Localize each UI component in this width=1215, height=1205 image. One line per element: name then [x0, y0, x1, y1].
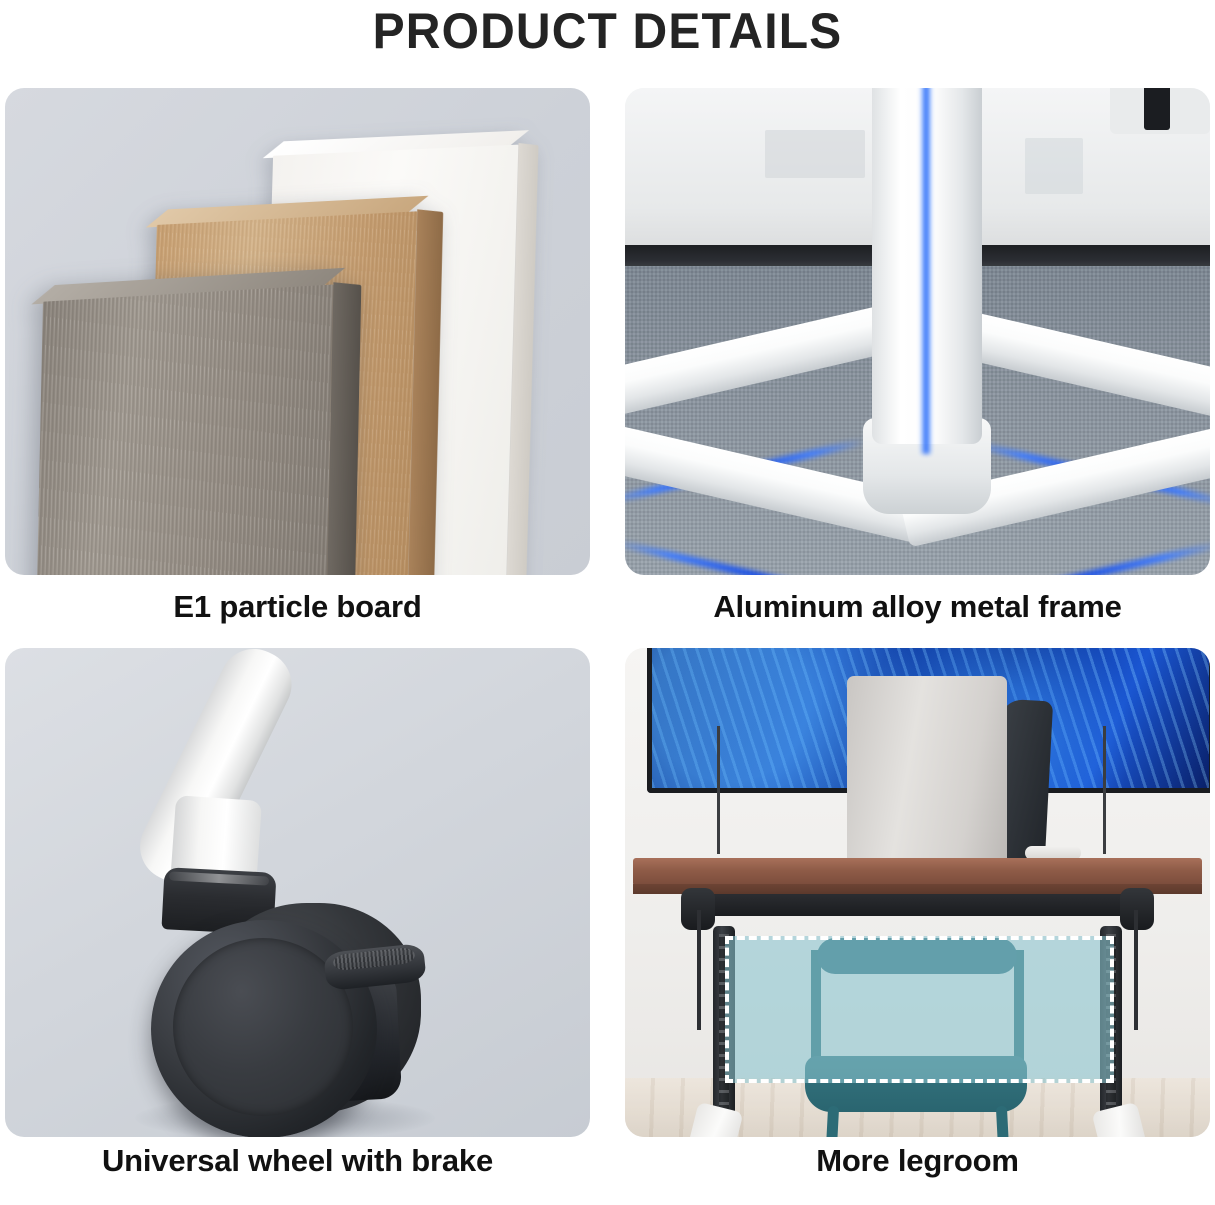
chair-leg-right	[996, 1106, 1013, 1137]
desk-crossbar	[697, 894, 1138, 916]
page-title: PRODUCT DETAILS	[24, 2, 1190, 60]
frame-column-glow	[920, 88, 932, 454]
feature-panel-grid: E1 particle board Aluminum alloy metal f…	[5, 88, 1210, 1198]
caption-e1-particle-board: E1 particle board	[5, 575, 590, 648]
caption-aluminum-alloy-metal-frame: Aluminum alloy metal frame	[625, 575, 1210, 648]
display-wire-left	[717, 726, 720, 854]
desk-latch-right[interactable]	[1134, 910, 1138, 1030]
desk-latch-left[interactable]	[697, 910, 701, 1030]
display-wire-right	[1103, 726, 1106, 854]
panel-e1-particle-board[interactable]	[5, 88, 590, 575]
caption-universal-wheel-with-brake: Universal wheel with brake	[5, 1137, 590, 1198]
panel-universal-wheel-with-brake[interactable]	[5, 648, 590, 1137]
product-details-page: PRODUCT DETAILS	[0, 0, 1215, 1205]
legroom-highlight-area	[725, 936, 1114, 1083]
laptop-icon	[847, 676, 1007, 861]
desk-tabletop-edge	[633, 884, 1202, 894]
wall-detail-left	[765, 130, 865, 178]
wall-detail-right	[1025, 138, 1083, 194]
panel-more-legroom[interactable]	[625, 648, 1210, 1137]
panel-aluminum-alloy-metal-frame[interactable]	[625, 88, 1210, 575]
monitor-mount-icon	[1110, 88, 1210, 134]
grey-board-icon	[35, 284, 334, 575]
desk-tabletop	[633, 858, 1202, 886]
grey-board-face	[35, 284, 334, 575]
caption-more-legroom: More legroom	[625, 1137, 1210, 1198]
